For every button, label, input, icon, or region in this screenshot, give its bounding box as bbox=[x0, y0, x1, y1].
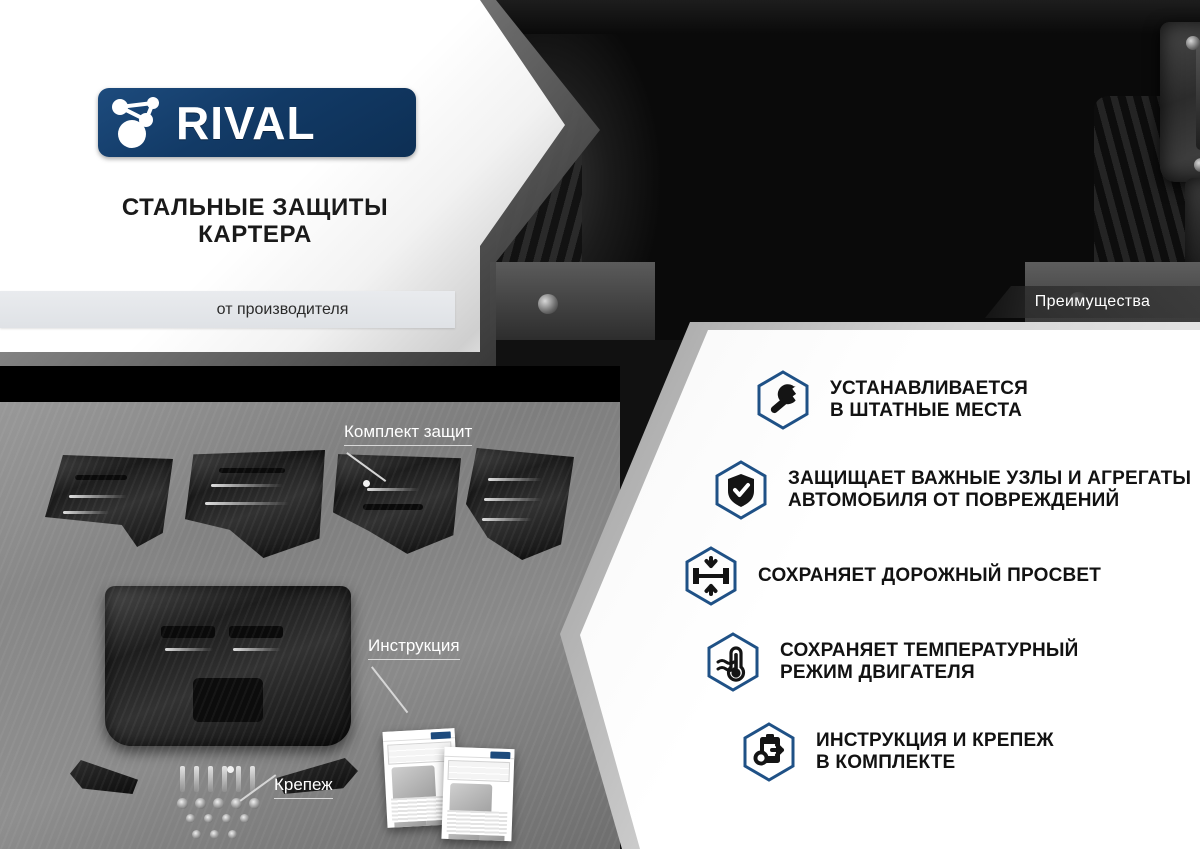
hero-subtitle: от производителя bbox=[0, 291, 455, 328]
feature-line2: АВТОМОБИЛЯ ОТ ПОВРЕЖДЕНИЙ bbox=[788, 490, 1191, 512]
callout-set-of-guards-label: Комплект защит bbox=[344, 422, 472, 446]
feature-line2: В ШТАТНЫЕ МЕСТА bbox=[830, 400, 1028, 422]
molecule-icon bbox=[106, 94, 180, 152]
feature-text: СОХРАНЯЕТ ТЕМПЕРАТУРНЫЙ РЕЖИМ ДВИГАТЕЛЯ bbox=[780, 640, 1079, 685]
divider-band bbox=[0, 366, 620, 402]
thermometer-icon bbox=[702, 631, 764, 693]
guard-plate-2 bbox=[185, 450, 325, 558]
brand-wordmark: RIVAL bbox=[176, 100, 316, 146]
advantages-tab[interactable]: Преимущества bbox=[985, 286, 1200, 318]
feature-item-instruction-and-fasteners: ИНСТРУКЦИЯ И КРЕПЕЖ В КОМПЛЕКТЕ bbox=[580, 720, 1200, 784]
skid-plate-lower bbox=[1185, 178, 1200, 274]
leader-dot-fasteners bbox=[227, 766, 234, 773]
guard-plate-1 bbox=[45, 455, 173, 555]
feature-item-keeps-ground-clearance: СОХРАНЯЕТ ДОРОЖНЫЙ ПРОСВЕТ bbox=[580, 544, 1200, 608]
guard-plate-main bbox=[105, 586, 351, 746]
callout-fasteners-label: Крепеж bbox=[274, 775, 333, 799]
subframe-left bbox=[490, 262, 655, 340]
guard-plate-4 bbox=[466, 448, 574, 560]
page-title-line1: СТАЛЬНЫЕ ЗАЩИТЫ bbox=[0, 195, 510, 222]
feature-item-protects-units: ЗАЩИЩАЕТ ВАЖНЫЕ УЗЛЫ И АГРЕГАТЫ АВТОМОБИ… bbox=[580, 458, 1200, 522]
callout-fasteners: Крепеж bbox=[274, 775, 333, 799]
guard-plate-3 bbox=[333, 452, 461, 556]
hero-subtitle-bar: от производителя bbox=[0, 291, 455, 328]
feature-line1: ЗАЩИЩАЕТ ВАЖНЫЕ УЗЛЫ И АГРЕГАТЫ bbox=[788, 468, 1191, 490]
callout-instruction: Инструкция bbox=[368, 636, 460, 660]
shield-check-icon bbox=[710, 459, 772, 521]
brand-logo[interactable]: RIVAL bbox=[98, 88, 416, 157]
page-title-line2: КАРТЕРА bbox=[0, 222, 510, 249]
wrench-icon bbox=[752, 369, 814, 431]
banner-root: Преимущества bbox=[0, 0, 1200, 849]
features-list: УСТАНАВЛИВАЕТСЯ В ШТАТНЫЕ МЕСТА ЗАЩИЩАЕТ… bbox=[580, 330, 1200, 849]
feature-line2: В КОМПЛЕКТЕ bbox=[816, 752, 1054, 774]
chassis-beam bbox=[470, 0, 1200, 34]
feature-item-installs-in-factory-points: УСТАНАВЛИВАЕТСЯ В ШТАТНЫЕ МЕСТА bbox=[580, 368, 1200, 432]
feature-line2: РЕЖИМ ДВИГАТЕЛЯ bbox=[780, 662, 1079, 684]
feature-line1: ИНСТРУКЦИЯ И КРЕПЕЖ bbox=[816, 730, 1054, 752]
clipboard-bolt-icon bbox=[738, 721, 800, 783]
feature-line1: СОХРАНЯЕТ ДОРОЖНЫЙ ПРОСВЕТ bbox=[758, 565, 1101, 587]
skid-plate-main bbox=[1160, 22, 1200, 182]
feature-text: УСТАНАВЛИВАЕТСЯ В ШТАТНЫЕ МЕСТА bbox=[830, 378, 1028, 423]
page-title: СТАЛЬНЫЕ ЗАЩИТЫ КАРТЕРА bbox=[0, 195, 510, 249]
callout-set-of-guards: Комплект защит bbox=[344, 422, 472, 446]
bracket-left bbox=[70, 760, 138, 794]
feature-text: ИНСТРУКЦИЯ И КРЕПЕЖ В КОМПЛЕКТЕ bbox=[816, 730, 1054, 775]
feature-line1: УСТАНАВЛИВАЕТСЯ bbox=[830, 378, 1028, 400]
under-car-photo: Преимущества bbox=[470, 0, 1200, 340]
feature-text: ЗАЩИЩАЕТ ВАЖНЫЕ УЗЛЫ И АГРЕГАТЫ АВТОМОБИ… bbox=[788, 468, 1191, 513]
leader-dot-guards bbox=[363, 480, 370, 487]
feature-item-keeps-engine-temperature: СОХРАНЯЕТ ТЕМПЕРАТУРНЫЙ РЕЖИМ ДВИГАТЕЛЯ bbox=[580, 630, 1200, 694]
advantages-tab-label: Преимущества bbox=[1035, 293, 1150, 311]
instruction-sheet-2 bbox=[441, 747, 514, 841]
callout-instruction-label: Инструкция bbox=[368, 636, 460, 660]
feature-line1: СОХРАНЯЕТ ТЕМПЕРАТУРНЫЙ bbox=[780, 640, 1079, 662]
feature-text: СОХРАНЯЕТ ДОРОЖНЫЙ ПРОСВЕТ bbox=[758, 565, 1101, 587]
ground-clearance-icon bbox=[680, 545, 742, 607]
